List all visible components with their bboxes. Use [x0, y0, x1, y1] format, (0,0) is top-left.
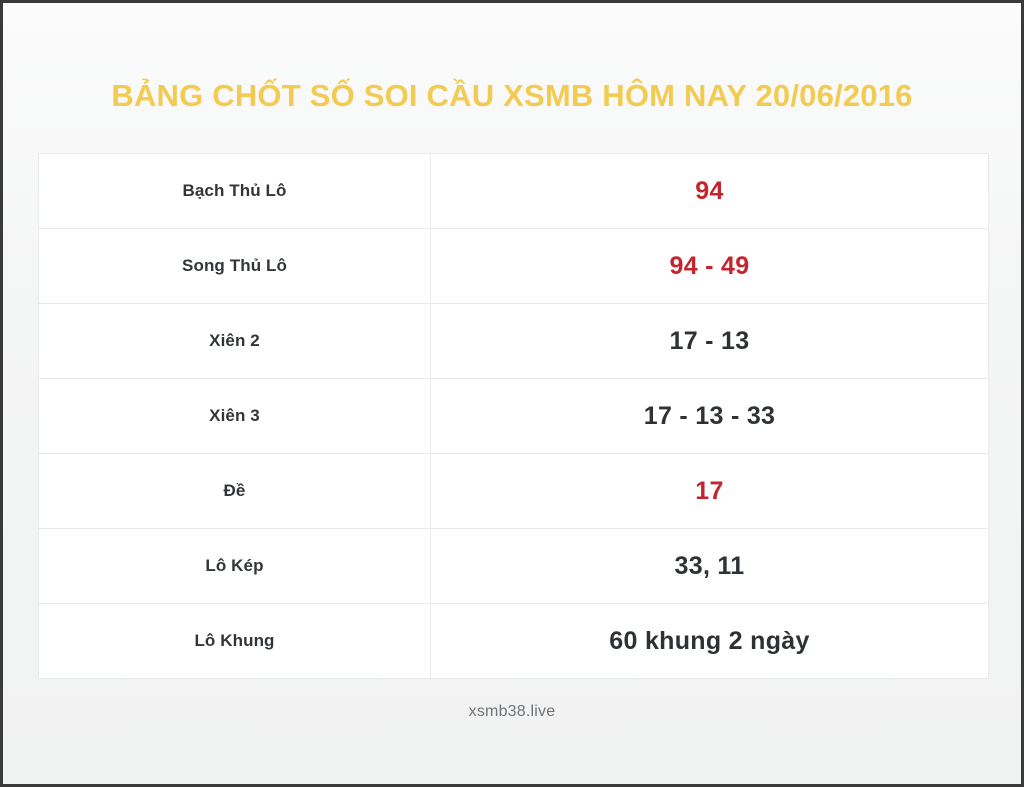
- page-title: BẢNG CHỐT SỐ SOI CẦU XSMB HÔM NAY 20/06/…: [3, 78, 1021, 114]
- row-label-lo-khung: Lô Khung: [39, 604, 431, 679]
- row-value-xien-3: 17 - 13 - 33: [431, 379, 989, 454]
- table-row: Đề 17: [39, 454, 989, 529]
- table-row: Xiên 2 17 - 13: [39, 304, 989, 379]
- table-row: Lô Khung 60 khung 2 ngày: [39, 604, 989, 679]
- table-row: Song Thủ Lô 94 - 49: [39, 229, 989, 304]
- row-label-song-thu-lo: Song Thủ Lô: [39, 229, 431, 304]
- prediction-table-body: Bạch Thủ Lô 94 Song Thủ Lô 94 - 49 Xiên …: [39, 154, 989, 679]
- row-label-xien-3: Xiên 3: [39, 379, 431, 454]
- prediction-table: Bạch Thủ Lô 94 Song Thủ Lô 94 - 49 Xiên …: [38, 153, 989, 679]
- row-value-lo-khung: 60 khung 2 ngày: [431, 604, 989, 679]
- row-value-lo-kep: 33, 11: [431, 529, 989, 604]
- table-row: Xiên 3 17 - 13 - 33: [39, 379, 989, 454]
- row-label-de: Đề: [39, 454, 431, 529]
- table-row: Bạch Thủ Lô 94: [39, 154, 989, 229]
- page-container: BẢNG CHỐT SỐ SOI CẦU XSMB HÔM NAY 20/06/…: [3, 3, 1021, 784]
- row-label-xien-2: Xiên 2: [39, 304, 431, 379]
- row-value-xien-2: 17 - 13: [431, 304, 989, 379]
- prediction-table-wrapper: Bạch Thủ Lô 94 Song Thủ Lô 94 - 49 Xiên …: [38, 153, 989, 674]
- table-row: Lô Kép 33, 11: [39, 529, 989, 604]
- row-label-lo-kep: Lô Kép: [39, 529, 431, 604]
- row-value-bach-thu-lo: 94: [431, 154, 989, 229]
- footer-site-label: xsmb38.live: [3, 703, 1021, 721]
- row-value-de: 17: [431, 454, 989, 529]
- row-value-song-thu-lo: 94 - 49: [431, 229, 989, 304]
- row-label-bach-thu-lo: Bạch Thủ Lô: [39, 154, 431, 229]
